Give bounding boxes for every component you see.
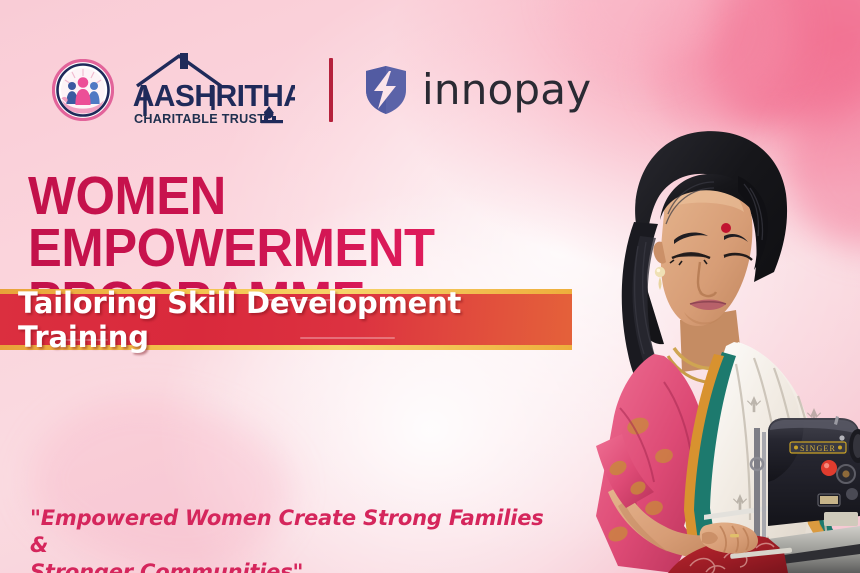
logo-divider — [329, 58, 333, 122]
svg-text:SINGER: SINGER — [800, 444, 836, 453]
ring — [730, 534, 739, 537]
promotional-banner: AASHRITHA CHARITABLE TRUST — [0, 0, 860, 573]
aashritha-emblem-icon — [52, 59, 114, 121]
woman-sewing-illustration: SINGER — [468, 96, 860, 573]
aashritha-wordmark: AASHRITHA CHARITABLE TRUST — [123, 50, 295, 130]
svg-text:CHARITABLE TRUST: CHARITABLE TRUST — [134, 112, 265, 126]
svg-text:AASHRITHA: AASHRITHA — [133, 79, 295, 114]
singer-nameplate: SINGER — [790, 442, 846, 453]
tension-knob — [821, 460, 837, 476]
shield-with-lightning-bolt-icon — [363, 64, 409, 116]
bindi — [721, 223, 731, 233]
needle-bar — [754, 428, 760, 550]
